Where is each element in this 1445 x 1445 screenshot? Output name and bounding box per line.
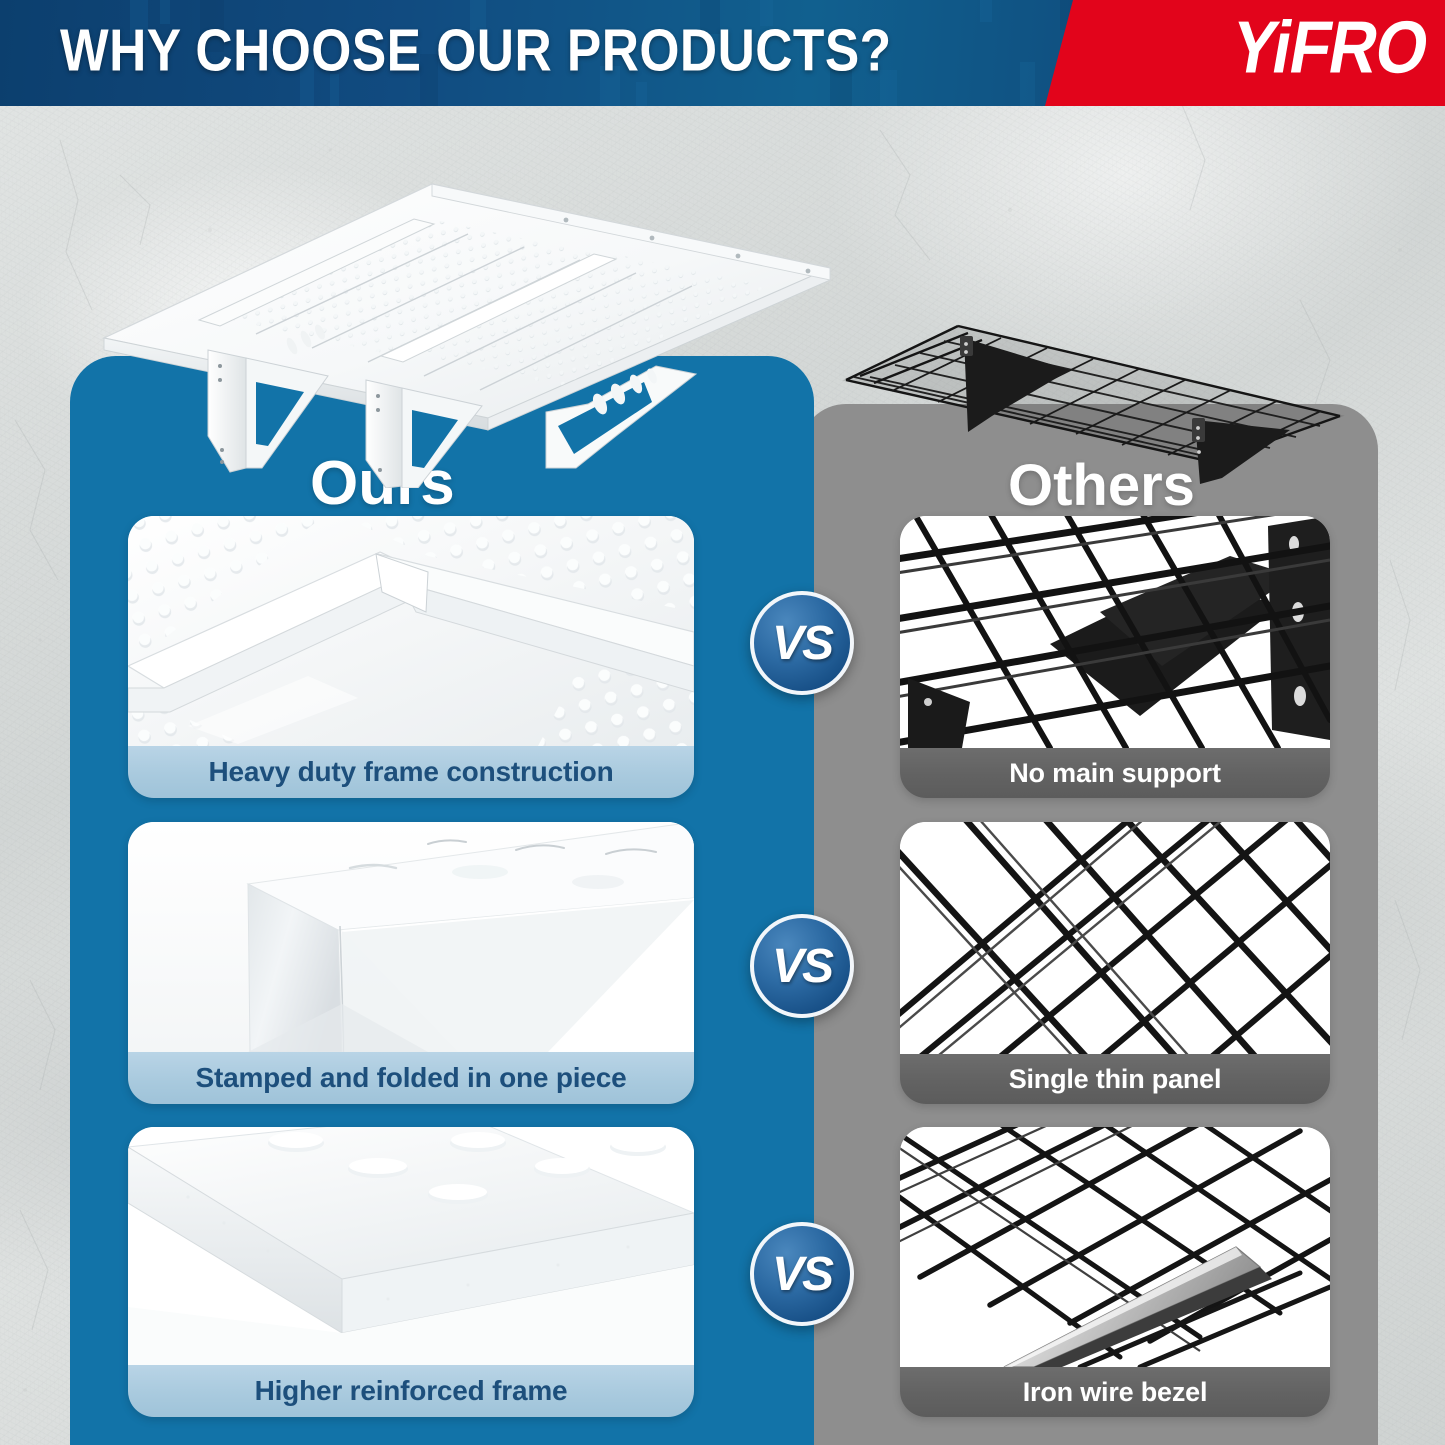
black-wire-mesh-closeup-icon — [900, 516, 1330, 748]
others-card-1-caption: No main support — [900, 748, 1330, 798]
others-card-3[interactable]: Iron wire bezel — [900, 1127, 1330, 1417]
vs-badge-3-label: VS — [772, 1247, 832, 1302]
vs-badge-1: VS — [750, 591, 854, 695]
header-banner: WHY CHOOSE OUR PRODUCTS? YiFRO — [0, 0, 1445, 106]
vs-badge-2: VS — [750, 914, 854, 1018]
ours-card-2-photo — [128, 822, 694, 1052]
vs-badge-1-label: VS — [772, 616, 832, 671]
white-reinforced-edge-closeup-icon — [128, 1127, 694, 1365]
black-wire-grid-closeup-icon — [900, 822, 1330, 1054]
ours-card-3-caption: Higher reinforced frame — [128, 1365, 694, 1417]
others-card-2-caption: Single thin panel — [900, 1054, 1330, 1104]
white-frame-crossbeam-closeup-icon — [128, 516, 694, 746]
black-wire-bezel-closeup-icon — [900, 1127, 1330, 1367]
column-title-ours: Ours — [310, 448, 455, 519]
others-card-3-photo — [900, 1127, 1330, 1367]
others-card-1[interactable]: No main support — [900, 516, 1330, 798]
brand-logo-text: YiFRO — [1225, 4, 1434, 89]
vs-badge-3: VS — [750, 1222, 854, 1326]
infographic-page: WHY CHOOSE OUR PRODUCTS? YiFRO — [0, 0, 1445, 1445]
others-card-2[interactable]: Single thin panel — [900, 822, 1330, 1104]
others-card-1-photo — [900, 516, 1330, 748]
vs-badge-2-label: VS — [772, 939, 832, 994]
others-card-2-photo — [900, 822, 1330, 1054]
others-card-3-caption: Iron wire bezel — [900, 1367, 1330, 1417]
ours-card-3-photo — [128, 1127, 694, 1365]
page-title: WHY CHOOSE OUR PRODUCTS? — [60, 15, 892, 84]
logo-badge: YiFRO — [1045, 0, 1445, 106]
ours-card-1-photo — [128, 516, 694, 746]
white-folded-bracket-closeup-icon — [128, 822, 694, 1052]
ours-card-1[interactable]: Heavy duty frame construction — [128, 516, 694, 798]
ours-card-1-caption: Heavy duty frame construction — [128, 746, 694, 798]
ours-card-2-caption: Stamped and folded in one piece — [128, 1052, 694, 1104]
ours-card-2[interactable]: Stamped and folded in one piece — [128, 822, 694, 1104]
ours-card-3[interactable]: Higher reinforced frame — [128, 1127, 694, 1417]
column-title-others: Others — [1008, 452, 1195, 519]
